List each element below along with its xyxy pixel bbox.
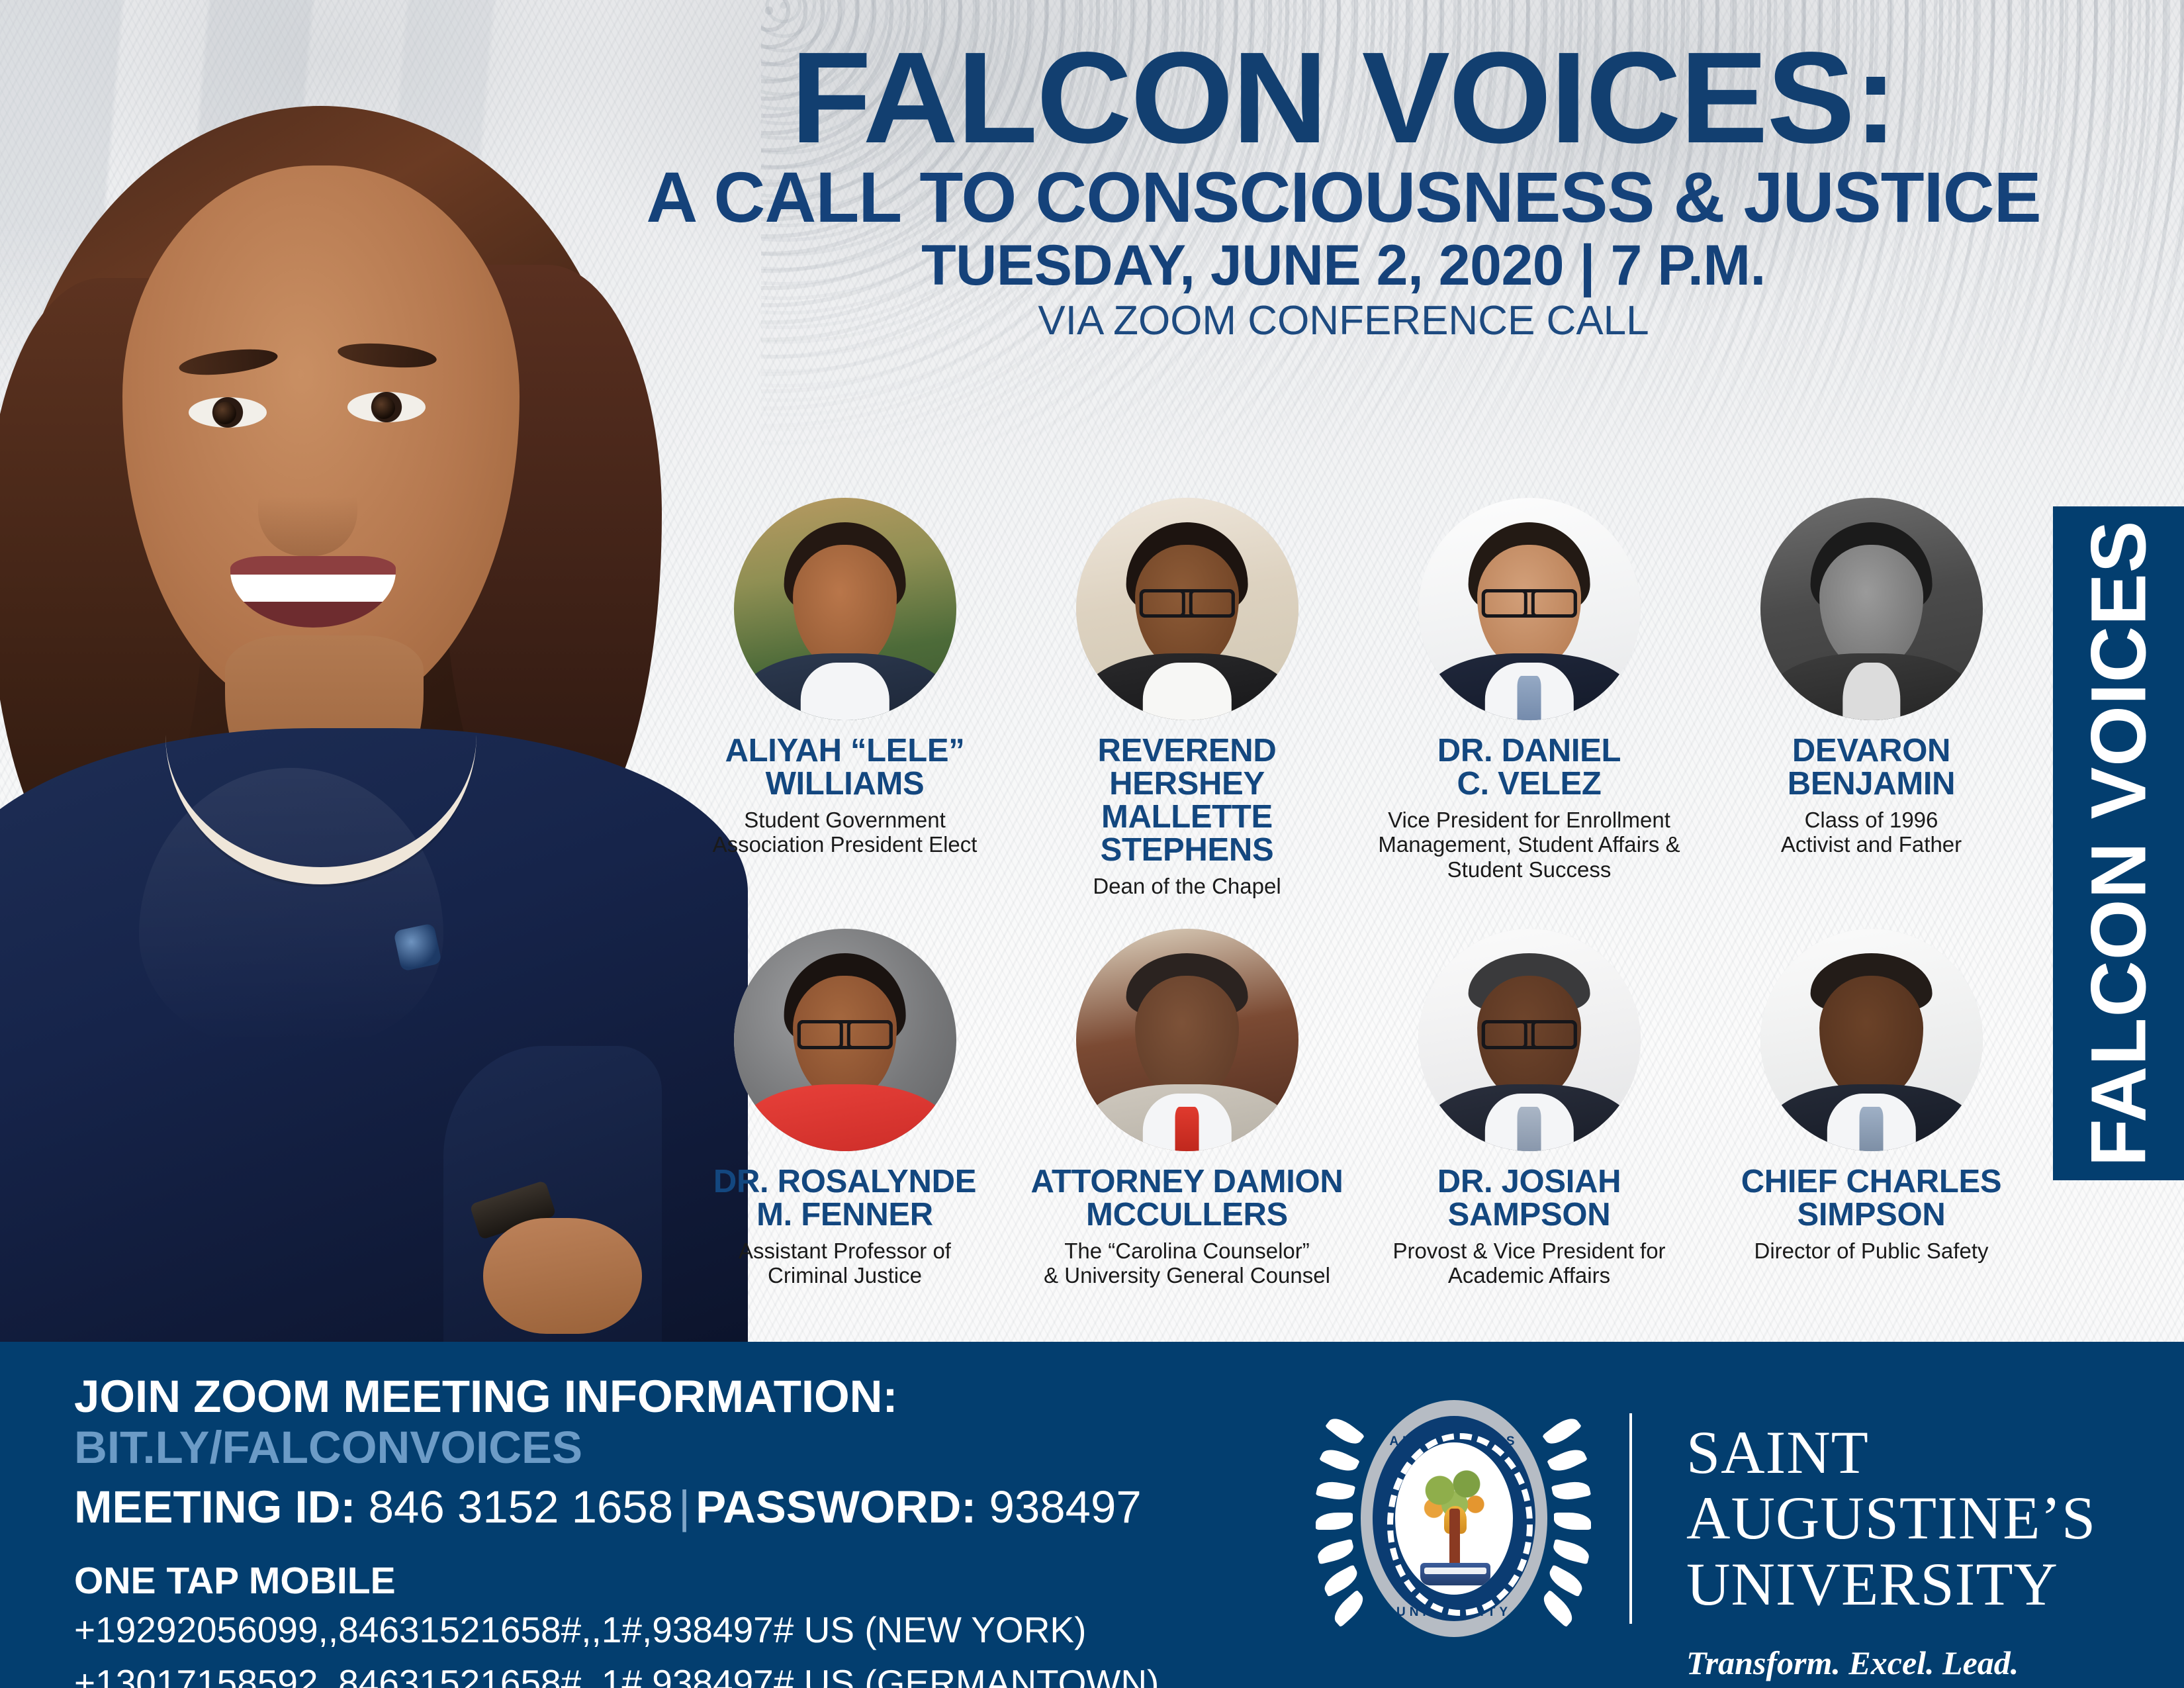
side-tab-falcon-voices: FALCON VOICES bbox=[2053, 506, 2184, 1180]
university-tagline: Transform. Excel. Lead. bbox=[1686, 1644, 2176, 1682]
password-value: 938497 bbox=[989, 1481, 1141, 1532]
photo-red-necktie bbox=[1175, 1107, 1199, 1151]
university-seal-icon: SAINT AUGUSTINE'S UNIVERSITY bbox=[1330, 1396, 1576, 1642]
speaker-row-1: ALIYAH “LELE”WILLIAMS Student Government… bbox=[674, 498, 2044, 898]
speaker-photo-rosalynde-fenner bbox=[734, 929, 956, 1151]
portrait-hand bbox=[483, 1218, 642, 1334]
speaker-role: The “Carolina Counselor”& University Gen… bbox=[1016, 1239, 1358, 1288]
one-tap-number-new-york[interactable]: +19292056099,,84631521658#,,1#,938497# U… bbox=[74, 1607, 1351, 1654]
side-tab-label: FALCON VOICES bbox=[2073, 520, 2163, 1167]
speaker-name: REVEREND HERSHEYMALLETTE STEPHENS bbox=[1016, 735, 1358, 867]
speakers-grid: ALIYAH “LELE”WILLIAMS Student Government… bbox=[674, 498, 2044, 1288]
photo-shirt bbox=[800, 663, 889, 720]
speaker-photo-devaron-benjamin bbox=[1760, 498, 1983, 720]
photo-necktie bbox=[1517, 676, 1541, 720]
speaker-row-2: DR. ROSALYNDEM. FENNER Assistant Profess… bbox=[674, 929, 2044, 1288]
speaker-name: ATTORNEY DAMIONMCCULLERS bbox=[1016, 1166, 1358, 1232]
photo-necktie bbox=[1859, 1107, 1884, 1151]
page-title: FALCON VOICES: bbox=[567, 38, 2120, 158]
join-zoom-line: JOIN ZOOM MEETING INFORMATION: BIT.LY/FA… bbox=[74, 1371, 1351, 1474]
speaker-card-rosalynde-fenner: DR. ROSALYNDEM. FENNER Assistant Profess… bbox=[674, 929, 1016, 1288]
speaker-photo-daniel-velez bbox=[1418, 498, 1641, 720]
event-datetime: TUESDAY, JUNE 2, 2020 | 7 P.M. bbox=[582, 237, 2105, 294]
one-tap-number-germantown[interactable]: +13017158592,,84631521658#,,1#,938497# U… bbox=[74, 1660, 1351, 1688]
speaker-photo-charles-simpson bbox=[1760, 929, 1983, 1151]
zoom-info-block: JOIN ZOOM MEETING INFORMATION: BIT.LY/FA… bbox=[74, 1371, 1351, 1688]
page-subtitle: A CALL TO CONSCIOUSNESS & JUSTICE bbox=[582, 162, 2105, 233]
speaker-role: Assistant Professor ofCriminal Justice bbox=[674, 1239, 1016, 1288]
zoom-link[interactable]: BIT.LY/FALCONVOICES bbox=[74, 1422, 582, 1473]
university-name-line-1: SAINT AUGUSTINE’S bbox=[1686, 1420, 2176, 1552]
photo-clerical-collar bbox=[1142, 663, 1231, 720]
speaker-role: Class of 1996Activist and Father bbox=[1700, 808, 2042, 857]
speaker-photo-hershey-mallette-stephens bbox=[1076, 498, 1298, 720]
university-wordmark: SAINT AUGUSTINE’S UNIVERSITY Transform. … bbox=[1686, 1420, 2176, 1682]
speaker-card-hershey-mallette-stephens: REVEREND HERSHEYMALLETTE STEPHENS Dean o… bbox=[1016, 498, 1358, 898]
photo-necktie bbox=[1517, 1107, 1541, 1151]
photo-glasses bbox=[1481, 589, 1576, 618]
speaker-role: Vice President for EnrollmentManagement,… bbox=[1358, 808, 1700, 882]
speaker-card-josiah-sampson: DR. JOSIAHSAMPSON Provost & Vice Preside… bbox=[1358, 929, 1700, 1288]
speaker-card-aliyah-williams: ALIYAH “LELE”WILLIAMS Student Government… bbox=[674, 498, 1016, 898]
speaker-name: DR. JOSIAHSAMPSON bbox=[1358, 1166, 1700, 1232]
crest-book-icon bbox=[1420, 1563, 1490, 1585]
photo-glasses bbox=[1481, 1020, 1576, 1049]
event-platform: VIA ZOOM CONFERENCE CALL bbox=[582, 301, 2105, 342]
meeting-id-label: MEETING ID: bbox=[74, 1481, 356, 1532]
meeting-credentials-line: MEETING ID: 846 3152 1658|PASSWORD: 9384… bbox=[74, 1481, 1351, 1532]
seal-crest bbox=[1395, 1442, 1513, 1595]
photo-shirt bbox=[1843, 663, 1900, 720]
headline-block: FALCON VOICES: A CALL TO CONSCIOUSNESS &… bbox=[582, 38, 2105, 342]
portrait-lapel-pin bbox=[393, 923, 442, 972]
photo-glasses bbox=[797, 1020, 892, 1049]
speaker-photo-aliyah-williams bbox=[734, 498, 956, 720]
speaker-card-damion-mccullers: ATTORNEY DAMIONMCCULLERS The “Carolina C… bbox=[1016, 929, 1358, 1288]
crest-tree-trunk bbox=[1449, 1509, 1460, 1566]
speaker-photo-josiah-sampson bbox=[1418, 929, 1641, 1151]
speaker-photo-damion-mccullers bbox=[1076, 929, 1298, 1151]
speaker-name: DR. DANIELC. VELEZ bbox=[1358, 735, 1700, 801]
speaker-role: Provost & Vice President forAcademic Aff… bbox=[1358, 1239, 1700, 1288]
speaker-name: CHIEF CHARLESSIMPSON bbox=[1700, 1166, 2042, 1232]
one-tap-mobile-label: ONE TAP MOBILE bbox=[74, 1560, 1351, 1602]
speaker-role: Director of Public Safety bbox=[1700, 1239, 2042, 1263]
poster-canvas: FALCON VOICES: A CALL TO CONSCIOUSNESS &… bbox=[0, 0, 2184, 1688]
speaker-role: Student GovernmentAssociation President … bbox=[674, 808, 1016, 857]
speaker-card-devaron-benjamin: DEVARONBENJAMIN Class of 1996Activist an… bbox=[1700, 498, 2042, 898]
password-label: PASSWORD: bbox=[696, 1481, 976, 1532]
credentials-separator: | bbox=[673, 1481, 696, 1532]
footer-bar: JOIN ZOOM MEETING INFORMATION: BIT.LY/FA… bbox=[0, 1342, 2184, 1688]
speaker-name: ALIYAH “LELE”WILLIAMS bbox=[674, 735, 1016, 801]
speaker-card-daniel-velez: DR. DANIELC. VELEZ Vice President for En… bbox=[1358, 498, 1700, 898]
portrait-nose bbox=[258, 457, 357, 556]
university-name-line-2: UNIVERSITY bbox=[1686, 1552, 2176, 1617]
portrait-eye-right bbox=[347, 392, 426, 422]
logo-divider bbox=[1629, 1413, 1632, 1624]
speaker-name: DR. ROSALYNDEM. FENNER bbox=[674, 1166, 1016, 1232]
photo-glasses bbox=[1139, 589, 1234, 618]
speaker-name: DEVARONBENJAMIN bbox=[1700, 735, 2042, 801]
portrait-eye-left bbox=[189, 397, 267, 428]
speaker-card-charles-simpson: CHIEF CHARLESSIMPSON Director of Public … bbox=[1700, 929, 2042, 1288]
join-zoom-label: JOIN ZOOM MEETING INFORMATION: bbox=[74, 1371, 898, 1422]
meeting-id-value: 846 3152 1658 bbox=[369, 1481, 673, 1532]
speaker-role: Dean of the Chapel bbox=[1016, 874, 1358, 898]
